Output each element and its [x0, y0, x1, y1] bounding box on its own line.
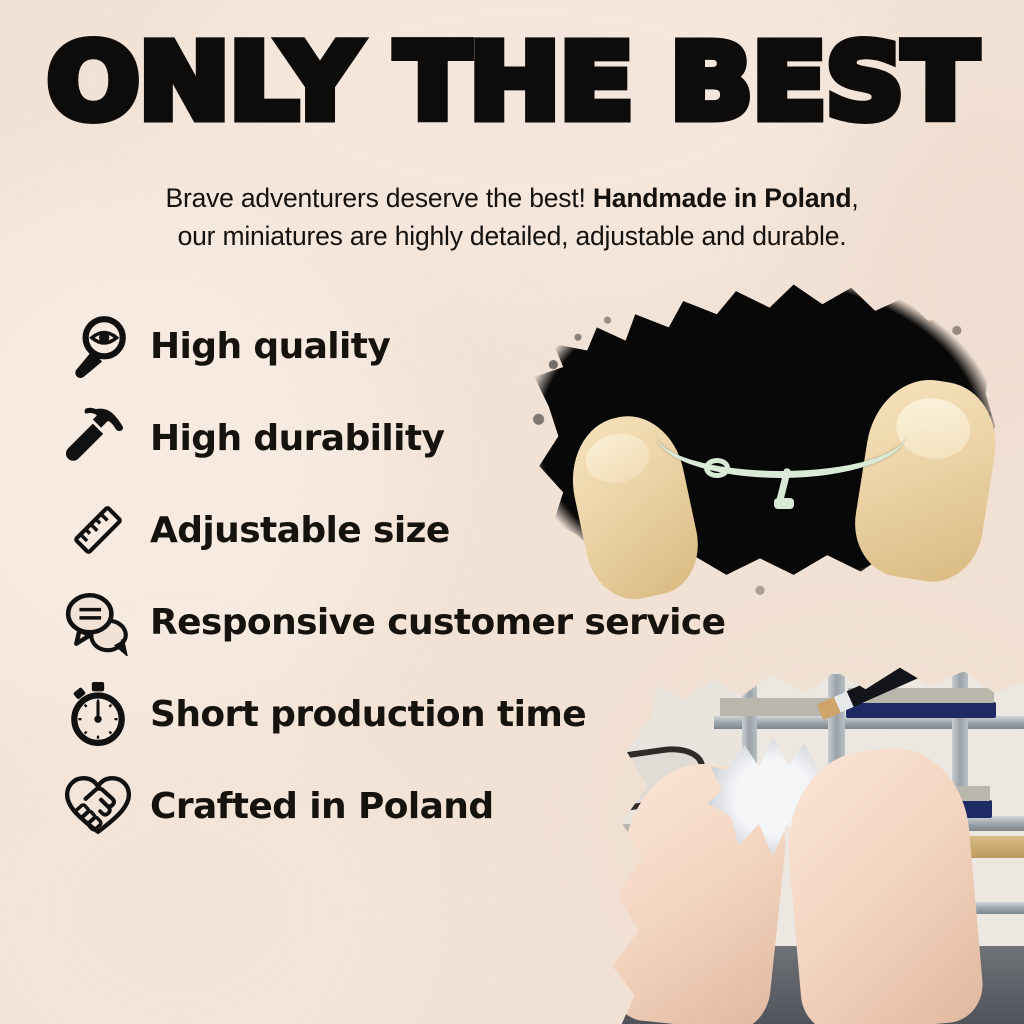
subtitle: Brave adventurers deserve the best! Hand…	[0, 180, 1024, 255]
workshop-scene	[596, 664, 1024, 1024]
feature-label: Crafted in Poland	[150, 786, 494, 827]
flexible-miniature-part	[656, 420, 906, 492]
stopwatch-icon	[60, 676, 136, 752]
handshake-heart-icon	[60, 768, 136, 844]
magnifier-eye-icon	[60, 308, 136, 384]
feature-label: Short production time	[150, 694, 586, 735]
fingernail	[581, 428, 654, 488]
feature-label: High durability	[150, 418, 444, 459]
subtitle-line-1: Brave adventurers deserve the best! Hand…	[0, 180, 1024, 218]
workshop-painting-photo	[596, 664, 1024, 1024]
part-loop	[704, 458, 730, 478]
flexible-miniature-photo	[520, 268, 1000, 598]
ruler-icon	[60, 492, 136, 568]
subtitle-plain-text: Brave adventurers deserve the best!	[165, 183, 592, 213]
subtitle-comma: ,	[851, 183, 858, 213]
speech-bubbles-icon	[60, 584, 136, 660]
hand-right	[780, 743, 986, 1024]
subtitle-line-2: our miniatures are highly detailed, adju…	[0, 218, 1024, 256]
feature-label: Responsive customer service	[150, 602, 725, 643]
part-strand	[656, 432, 906, 478]
feature-label: High quality	[150, 326, 390, 367]
subtitle-bold-text: Handmade in Poland	[593, 183, 852, 213]
hammer-icon	[60, 400, 136, 476]
title-block: ONLY THE BEST	[0, 30, 1024, 134]
storage-tray-top	[846, 702, 996, 718]
page-title: ONLY THE BEST	[47, 30, 977, 134]
part-tip-end	[774, 498, 794, 509]
infographic-canvas: ONLY THE BEST Brave adventurers deserve …	[0, 0, 1024, 1024]
feature-label: Adjustable size	[150, 510, 450, 551]
